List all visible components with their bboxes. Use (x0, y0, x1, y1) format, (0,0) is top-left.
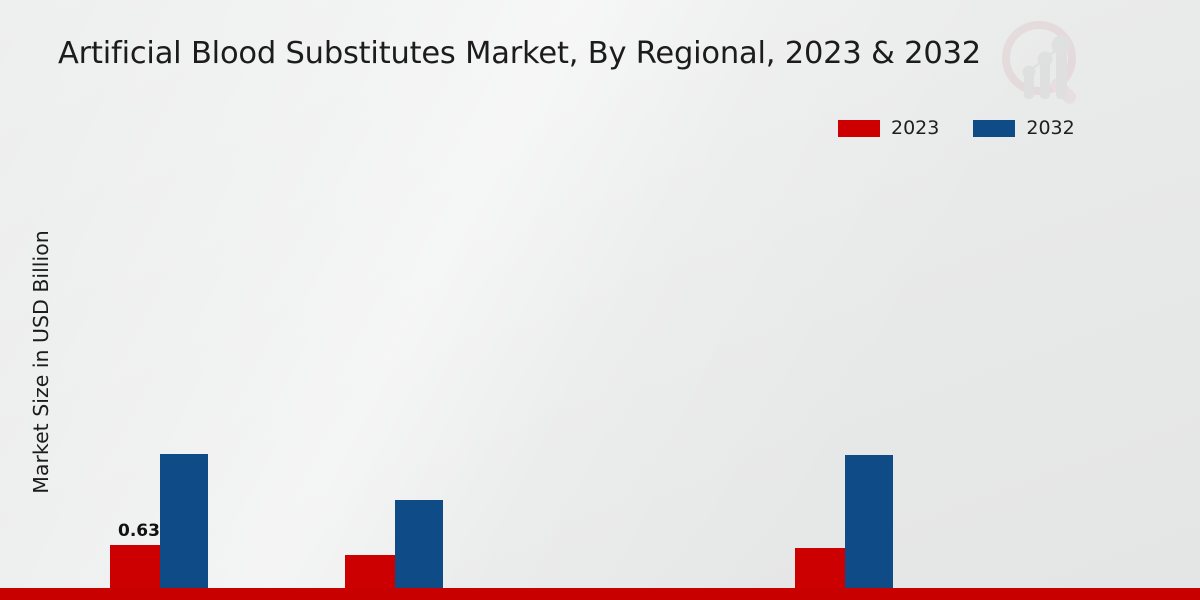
footer-accent-bar (0, 588, 1200, 600)
bar-2032-asia-pacific (845, 455, 893, 600)
bar-value-label: 0.63 (118, 521, 160, 541)
bar-2032-north-america (160, 454, 208, 600)
legend-item-2023[interactable]: 2023 (838, 119, 939, 138)
chart-title: Artificial Blood Substitutes Market, By … (58, 36, 981, 71)
legend-swatch-2032 (973, 120, 1015, 137)
plot-area: NORTH AMERICAEUROPESOUTH AMERICAASIA PAC… (36, 160, 1186, 468)
legend-label-2032: 2032 (1026, 119, 1074, 138)
legend-swatch-2023 (838, 120, 880, 137)
chart-legend: 2023 2032 (838, 119, 1075, 138)
legend-item-2032[interactable]: 2032 (973, 119, 1074, 138)
bar-2032-europe (395, 500, 443, 600)
magnifier-bar-chart-logo-icon (995, 14, 1095, 114)
chart-page: Artificial Blood Substitutes Market, By … (0, 0, 1200, 600)
legend-label-2023: 2023 (891, 119, 939, 138)
